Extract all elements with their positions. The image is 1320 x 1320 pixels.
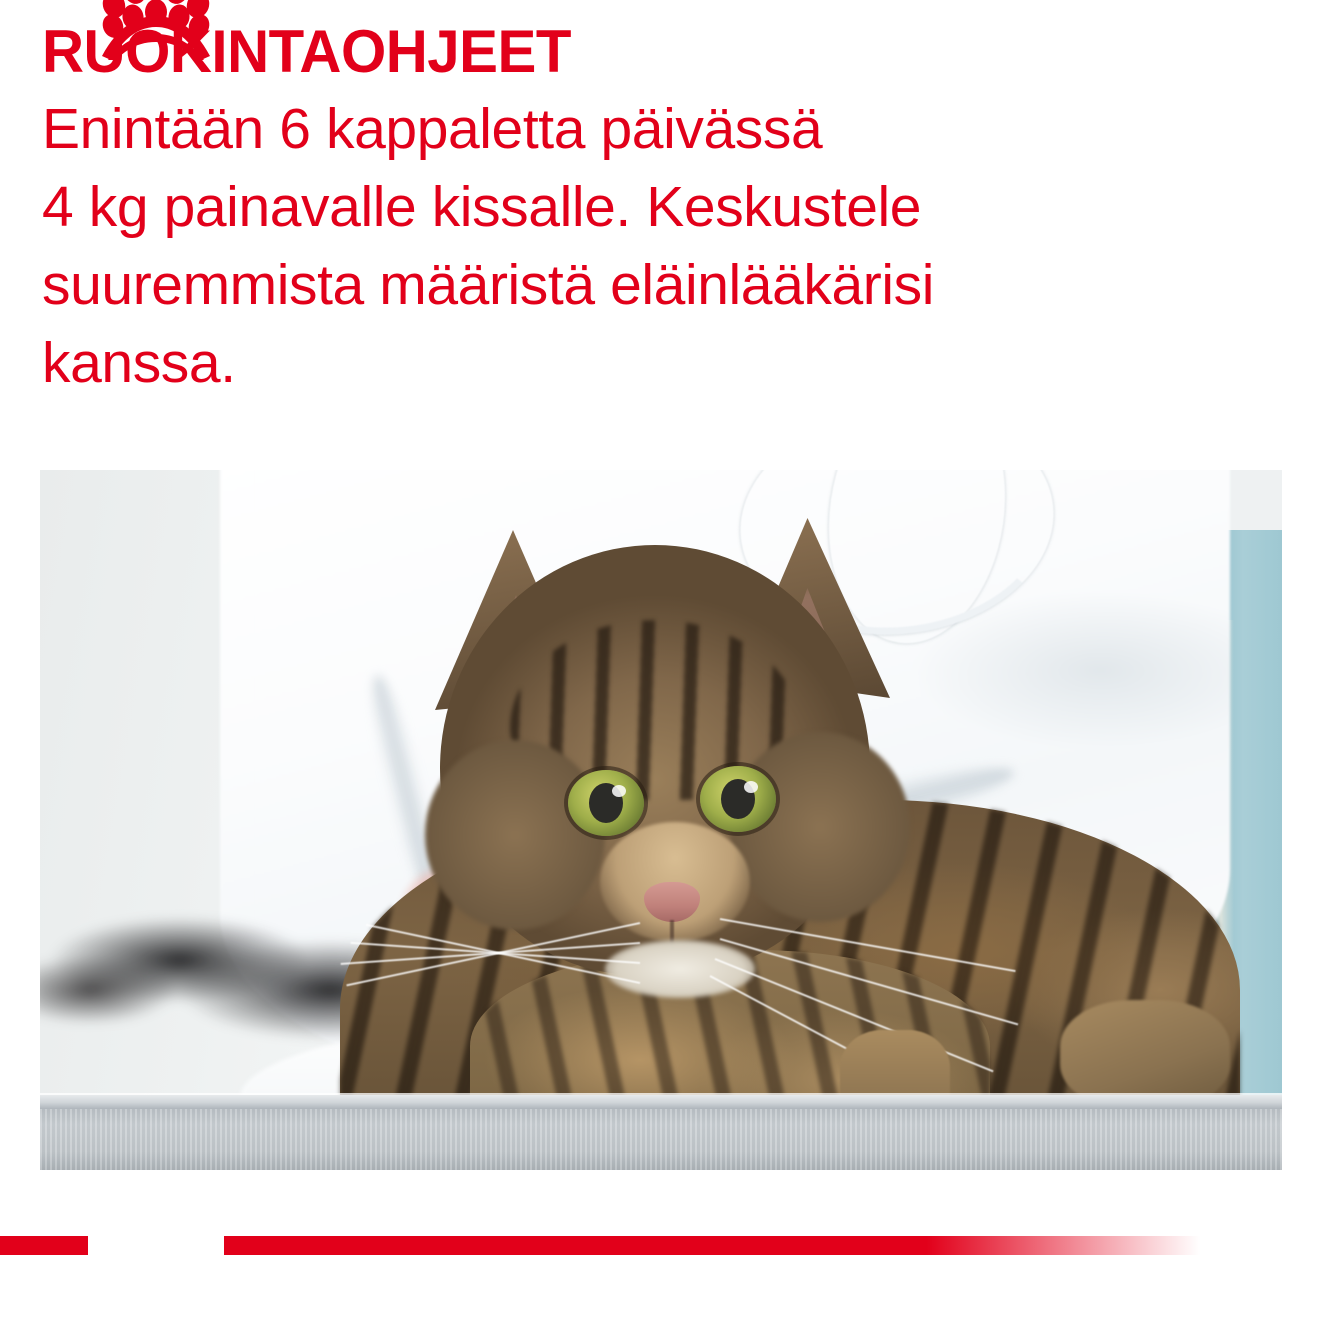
body-line-4: kanssa. [42, 324, 1282, 402]
cat-eye-glint-left [612, 785, 626, 797]
header-block: RUOKINTAOHJEET Enintään 6 kappaletta päi… [42, 22, 1282, 402]
footer-brand-band [0, 1236, 1320, 1256]
royal-canin-crown-paw-icon [88, 0, 224, 60]
feeding-instructions-text: Enintään 6 kappaletta päivässä 4 kg pain… [42, 90, 1282, 402]
cat-eye-glint-right [744, 781, 758, 793]
exam-table-top [40, 1095, 1282, 1109]
page-root: RUOKINTAOHJEET Enintään 6 kappaletta päi… [0, 0, 1320, 1320]
photo-scene [40, 470, 1282, 1170]
body-line-3: suuremmista määristä eläinlääkärisi [42, 246, 1282, 324]
cat-eye-left [568, 770, 644, 836]
brand-band-left [0, 1236, 88, 1255]
hero-photo [40, 470, 1282, 1170]
body-line-2: 4 kg painavalle kissalle. Keskustele [42, 168, 1282, 246]
exam-table-face [40, 1109, 1282, 1170]
brand-band-right [224, 1236, 1200, 1255]
cat-cheek-left [425, 740, 605, 930]
body-line-1: Enintään 6 kappaletta päivässä [42, 90, 1282, 168]
cat-eye-right [700, 766, 776, 832]
